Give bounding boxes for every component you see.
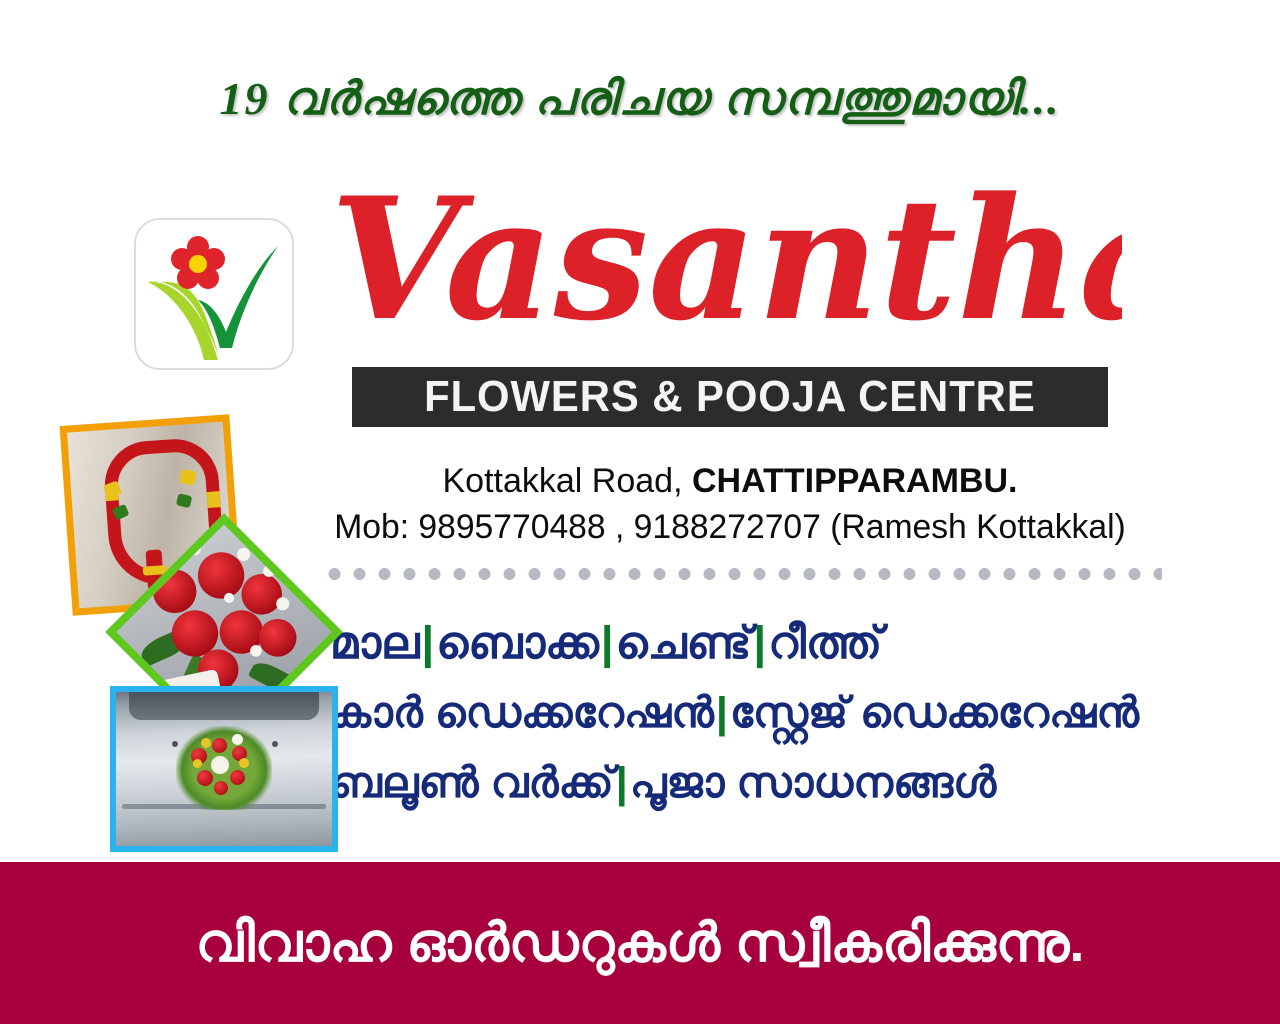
subtitle-bar: FLOWERS & POOJA CENTRE	[352, 367, 1108, 427]
banner-text: വിവാഹ ഓർഡറുകൾ സ്വീകരിക്കുന്നു.	[196, 912, 1085, 975]
service-item: ചെണ്ട്	[615, 617, 751, 668]
address-place: CHATTIPPARAMBU.	[692, 462, 1018, 500]
vasantham-logo-icon	[136, 220, 292, 368]
separator-icon: |	[752, 617, 769, 668]
services-line-3: ബലൂൺ വർക്ക്|പൂജാ സാധനങ്ങൾ	[330, 748, 1220, 818]
services-line-1: മാല|ബൊക്ക|ചെണ്ട്|റീത്ത്	[330, 608, 1220, 678]
tagline-text: 19 വർഷത്തെ പരിചയ സമ്പത്തുമായി...	[0, 72, 1280, 127]
separator-icon: |	[420, 617, 437, 668]
services-list: മാല|ബൊക്ക|ചെണ്ട്|റീത്ത് കാർ ഡെക്കറേഷൻ|സ്…	[330, 608, 1220, 818]
service-item: ബലൂൺ വർക്ക്	[330, 759, 614, 807]
brand-wordmark: Vasantham	[322, 150, 1122, 360]
separator-icon: |	[614, 759, 630, 807]
address-line: Kottakkal Road, CHATTIPPARAMBU.	[300, 458, 1160, 504]
separator-icon: |	[599, 617, 616, 668]
subtitle-text: FLOWERS & POOJA CENTRE	[424, 372, 1036, 422]
service-item: മാല	[330, 617, 420, 668]
services-line-2: കാർ ഡെക്കറേഷൻ|സ്റ്റേജ് ഡെക്കറേഷൻ	[330, 678, 1220, 748]
separator-icon: |	[714, 689, 730, 737]
mobile-line: Mob: 9895770488 , 9188272707 (Ramesh Kot…	[304, 504, 1155, 550]
brand-script-text: Vasantham	[330, 160, 1122, 358]
service-item: കാർ ഡെക്കറേഷൻ	[330, 689, 714, 737]
car-decoration-photo	[110, 686, 338, 852]
service-item: ബൊക്ക	[436, 617, 599, 668]
address-prefix: Kottakkal Road,	[443, 462, 692, 500]
service-item: സ്റ്റേജ് ഡെക്കറേഷൻ	[730, 689, 1139, 737]
bottom-banner: വിവാഹ ഓർഡറുകൾ സ്വീകരിക്കുന്നു.	[0, 862, 1280, 1024]
contact-block: Kottakkal Road, CHATTIPPARAMBU. Mob: 989…	[300, 458, 1160, 550]
dotted-divider	[322, 568, 1162, 580]
business-card: 19 വർഷത്തെ പരിചയ സമ്പത്തുമായി... Vasanth…	[0, 0, 1280, 1024]
logo-frame	[134, 218, 294, 370]
service-item: റീത്ത്	[768, 617, 882, 668]
service-item: പൂജാ സാധനങ്ങൾ	[630, 759, 996, 807]
